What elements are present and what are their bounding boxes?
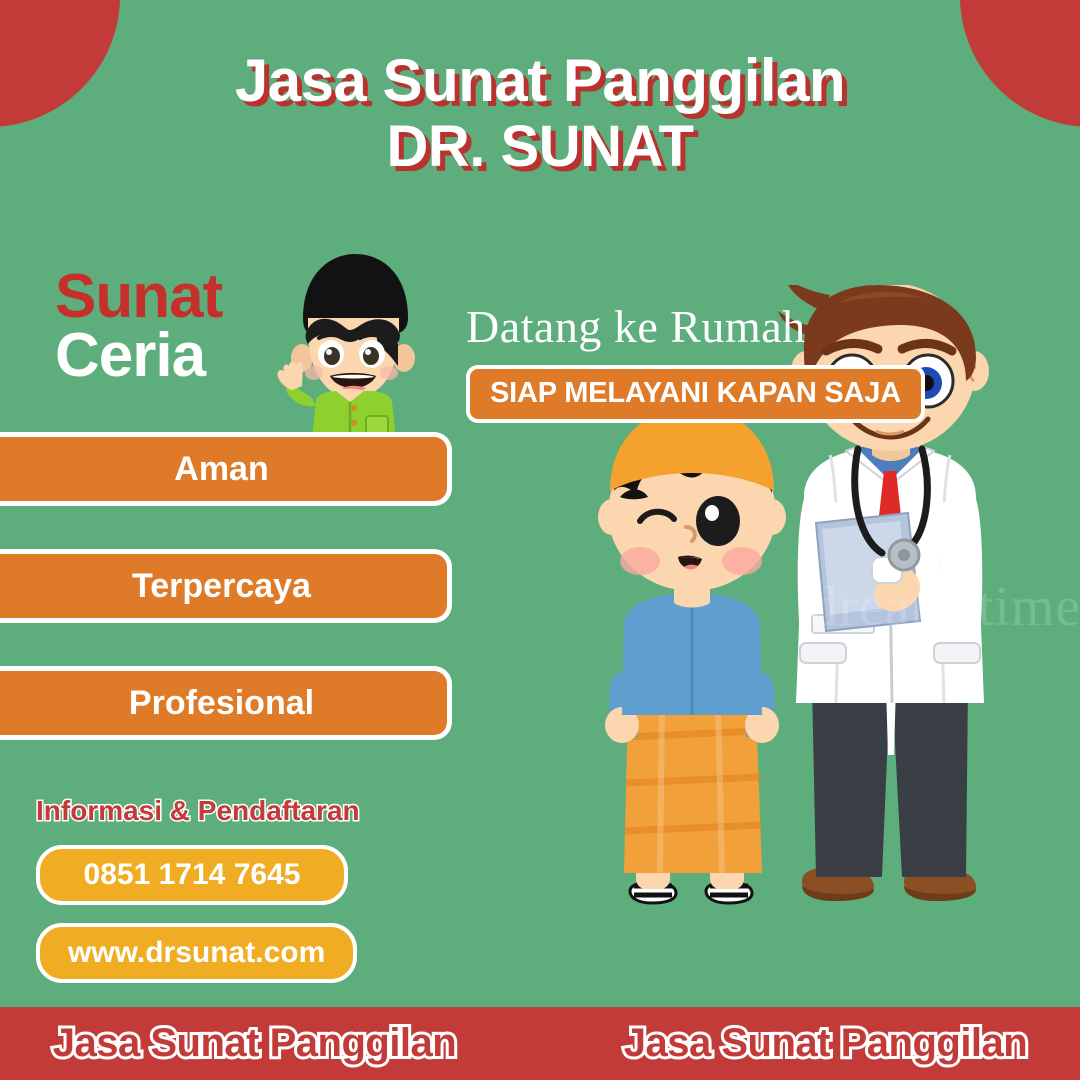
service-headline: Datang ke Rumah [466, 300, 925, 353]
feature-label: Aman [148, 450, 268, 489]
contact-website-row: www.drsunat.com [36, 923, 360, 1001]
feature-pill-aman[interactable]: Aman [0, 432, 452, 506]
contact-phone-row: 0851 1714 7645 [36, 845, 360, 923]
contact-phone-button[interactable]: 0851 1714 7645 [36, 845, 348, 905]
poster-header: Jasa Sunat Panggilan DR. SUNAT [0, 50, 1080, 176]
header-title-line-2: DR. SUNAT [0, 117, 1080, 176]
feature-label: Profesional [103, 684, 314, 723]
brand-lockup: Sunat Ceria [55, 268, 222, 384]
feature-pill-profesional[interactable]: Profesional [0, 666, 452, 740]
bottom-banner: Jasa Sunat Panggilan Jasa Sunat Panggila… [0, 1007, 1080, 1080]
service-headline-group: Datang ke Rumah SIAP MELAYANI KAPAN SAJA [466, 300, 925, 423]
contact-section: Informasi & Pendaftaran 0851 1714 7645 w… [36, 795, 360, 1001]
bottom-banner-text-right: Jasa Sunat Panggilan [545, 1021, 1080, 1066]
feature-pill-terpercaya[interactable]: Terpercaya [0, 549, 452, 623]
availability-badge: SIAP MELAYANI KAPAN SAJA [466, 365, 925, 423]
header-title-line-1: Jasa Sunat Panggilan [0, 50, 1080, 111]
bottom-banner-text-left: Jasa Sunat Panggilan [0, 1021, 545, 1066]
muslim-boy-sarong-icon [598, 407, 786, 903]
brand-word-ceria: Ceria [55, 327, 222, 384]
feature-list: Aman Terpercaya Profesional [0, 432, 452, 783]
poster-canvas: Jasa Sunat Panggilan DR. SUNAT Sunat Cer… [0, 0, 1080, 1080]
brand-word-sunat: Sunat [55, 268, 222, 325]
contact-section-title: Informasi & Pendaftaran [36, 795, 360, 827]
feature-label: Terpercaya [106, 567, 311, 606]
waving-muslim-boy-icon [258, 240, 443, 445]
contact-website-button[interactable]: www.drsunat.com [36, 923, 357, 983]
